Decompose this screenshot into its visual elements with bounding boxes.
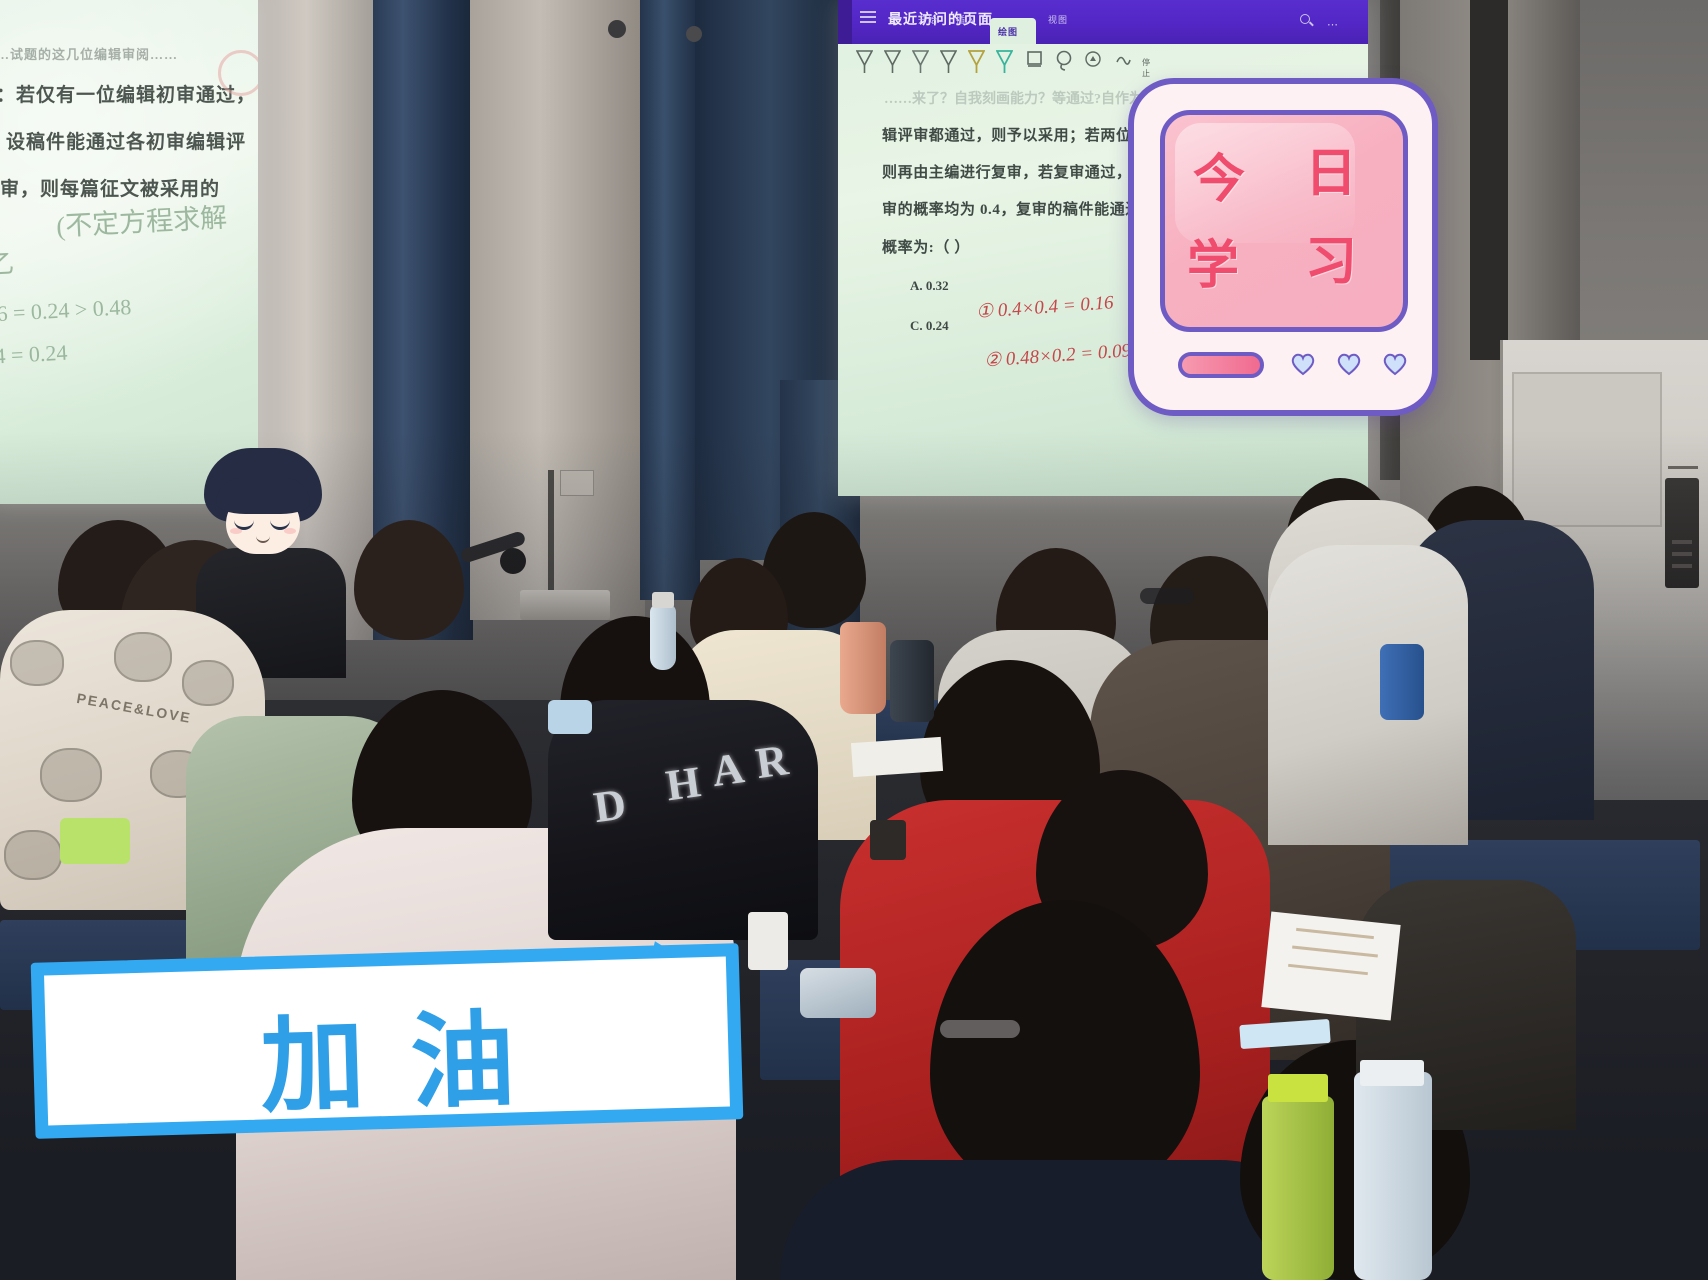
highlighter-tool-2[interactable] <box>996 50 1013 74</box>
notebook-page <box>851 737 943 777</box>
bear-print-3 <box>182 660 234 706</box>
hamburger-icon[interactable] <box>860 11 876 26</box>
heart-icon-1 <box>1290 352 1316 376</box>
left-screen-handwriting-1: 乙 <box>0 243 15 281</box>
bear-print-2 <box>114 632 172 682</box>
ellipsis-icon[interactable]: ⋯ <box>1327 18 1338 31</box>
phone-on-desk <box>800 968 876 1018</box>
water-bottle-1 <box>650 604 676 670</box>
goth-letter-4: R <box>753 734 795 789</box>
left-screen-line-0: ……试题的这几位编辑审阅…… <box>0 44 178 63</box>
ink-to-shape-tool[interactable] <box>1084 50 1101 74</box>
heart-icon-2 <box>1336 352 1362 376</box>
heart-icon-3 <box>1382 352 1408 376</box>
ribbon-edge <box>838 0 852 44</box>
option-a: A. 0.32 <box>910 278 949 294</box>
document-title: 最近访问的页面 <box>888 9 993 29</box>
screenshot-root: ……试题的这几位编辑审阅…… ：若仅有一位编辑初审通过， 设稿件能通过各初审编辑… <box>0 0 1708 1280</box>
goth-letter-2: H <box>663 756 707 812</box>
ink-annotation-1: ① 0.4×0.4 = 0.16 <box>975 291 1114 324</box>
study-sticker-char-2: 日 <box>1305 131 1359 206</box>
chibi-blush-right <box>284 528 296 534</box>
highlighter-tool-1[interactable] <box>968 50 985 74</box>
blue-tumbler <box>1380 644 1424 720</box>
small-cup <box>870 820 906 860</box>
study-sticker-char-4: 习 <box>1305 219 1359 294</box>
ink-annotation-2: ② 0.48×0.2 = 0.096 <box>983 339 1141 373</box>
bear-print-6 <box>4 830 62 880</box>
study-sticker-pill <box>1178 352 1264 378</box>
study-sticker-char-3: 学 <box>1187 223 1241 298</box>
right-screen-line-4: 概率为:（ ） <box>882 236 970 257</box>
chibi-boy-sticker <box>204 448 322 558</box>
pen-tool-4[interactable] <box>940 50 957 74</box>
study-sticker-char-1: 今 <box>1193 137 1247 212</box>
tab-draw[interactable]: 绘图 <box>998 25 1018 38</box>
option-a-key: A <box>910 278 919 293</box>
thermos-bottle <box>840 622 886 714</box>
ceiling-fixture-2 <box>686 26 702 42</box>
black-tumbler <box>890 640 934 722</box>
goth-letter-1: D <box>591 778 633 833</box>
bear-print-1 <box>10 640 64 686</box>
app-ribbon: 最近访问的页面 开始 插入 绘图 视图 ⋯ <box>838 0 1368 44</box>
green-bottle-cap <box>1268 1074 1328 1102</box>
eyeglasses-2 <box>940 1020 1020 1038</box>
draw-toolbar: 停止 <box>856 50 1156 80</box>
cheer-banner-text: 加油 <box>40 968 734 1138</box>
worksheet-paper <box>1261 911 1400 1020</box>
pen-tool-2[interactable] <box>884 50 901 74</box>
green-item <box>60 818 130 864</box>
chibi-blush-left <box>230 528 242 534</box>
cheer-banner: 加油 <box>40 952 734 1129</box>
left-screen-circle-mark <box>218 50 258 96</box>
toolbar-stop-label[interactable]: 停止 <box>1142 57 1156 79</box>
face-mask <box>548 700 592 734</box>
water-bottle-right <box>1354 1072 1432 1280</box>
option-c: C. 0.24 <box>910 318 949 334</box>
pen-tool-1[interactable] <box>856 50 873 74</box>
option-c-value: 0.24 <box>926 318 949 333</box>
tab-start[interactable]: 开始 <box>918 13 938 26</box>
bottle-cap-1 <box>652 592 674 608</box>
search-icon[interactable] <box>1300 14 1310 24</box>
option-c-key: C <box>910 318 919 333</box>
left-screen-line-1: ：若仅有一位编辑初审通过， <box>0 80 256 107</box>
lasso-select-tool[interactable] <box>1056 50 1073 74</box>
bear-print-4 <box>40 748 102 802</box>
tab-view[interactable]: 视图 <box>1048 13 1068 26</box>
tab-insert[interactable]: 插入 <box>956 13 976 26</box>
study-sticker: 今 日 学 习 <box>1128 78 1438 416</box>
ceiling-fixture <box>608 20 626 38</box>
option-a-value: 0.32 <box>926 278 949 293</box>
study-sticker-panel: 今 日 学 习 <box>1160 110 1408 332</box>
green-tea-bottle <box>1262 1096 1334 1280</box>
pen-tool-3[interactable] <box>912 50 929 74</box>
ink-replay-tool[interactable] <box>1114 50 1131 74</box>
left-screen-handwriting-3: 0.4 = 0.24 <box>0 340 68 371</box>
bottle-cap-right <box>1360 1060 1424 1086</box>
paper-cup <box>748 912 788 970</box>
eyeglasses <box>1140 588 1194 604</box>
left-screen-line-2: 设稿件能通过各初审编辑评 <box>6 127 246 154</box>
goth-letter-3: A <box>709 742 751 797</box>
chibi-fringe <box>216 478 310 514</box>
projector-screen-left: ……试题的这几位编辑审阅…… ：若仅有一位编辑初审通过， 设稿件能通过各初审编辑… <box>0 0 258 504</box>
ceiling-shadow <box>1470 0 1508 360</box>
student-body-white-hoodie-front <box>1268 545 1468 845</box>
eraser-tool[interactable] <box>1026 50 1043 74</box>
